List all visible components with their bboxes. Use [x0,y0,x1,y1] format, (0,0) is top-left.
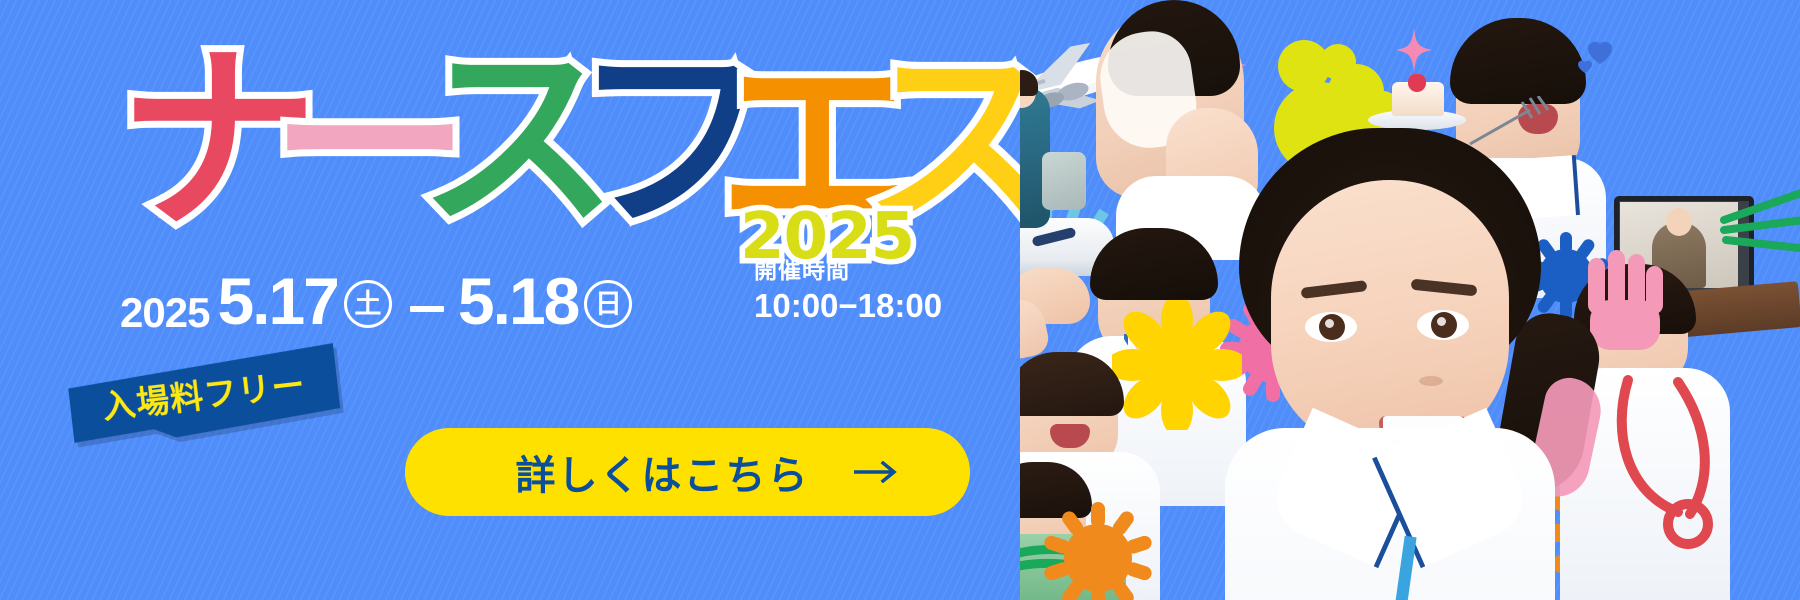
main-nurse-brow-left [1301,280,1368,299]
event-end-date: 5.18 [458,268,578,334]
yellow-flower-decoration [1112,300,1242,430]
event-start-weekday: 土 [344,280,392,328]
event-date-row: 2025 5.17 土 5.18 日 [120,262,636,334]
traveler-suitcase [1042,152,1086,210]
badge-label: 入場料フリー [67,343,342,449]
cake-woman-hair [1450,18,1586,104]
event-start-date: 5.17 [217,268,337,334]
date-range-dash [410,306,444,312]
arrow-right-icon [854,461,898,483]
event-time-block: 開催時間 10:00−18:00 [754,258,942,327]
heart-decoration [1576,34,1620,74]
photo-collage [1020,0,1800,600]
green-rays-decoration-2 [1720,186,1800,256]
main-nurse-eye-right [1417,310,1469,340]
stethoscope-icon [1604,372,1774,552]
orange-burst-decoration [1038,498,1158,600]
event-logo: ナ ー ス フ エ ス 2025 [118,32,998,232]
main-nurse-brow-right [1411,279,1478,297]
cta-label: 詳しくはこちら [516,443,810,501]
laptop-person-head [1666,208,1692,236]
details-cta-button[interactable]: 詳しくはこちら [405,428,970,516]
event-time-value: 10:00−18:00 [754,285,942,326]
main-nurse-photo [1225,128,1555,600]
main-nurse-face [1271,180,1509,452]
event-end-weekday: 日 [584,280,632,328]
main-nurse-nose [1419,376,1443,386]
main-nurse-eye-left [1305,312,1357,342]
event-year: 2025 [120,292,209,334]
banner-left-content: ナ ー ス フ エ ス 2025 2025 5.17 土 5.18 日 開催時間… [0,0,1060,600]
free-entry-badge: 入場料フリー [67,343,342,449]
nurse-fes-banner: ナ ー ス フ エ ス 2025 2025 5.17 土 5.18 日 開催時間… [0,0,1800,600]
event-time-label: 開催時間 [754,258,942,283]
cake-strawberry [1408,74,1426,92]
